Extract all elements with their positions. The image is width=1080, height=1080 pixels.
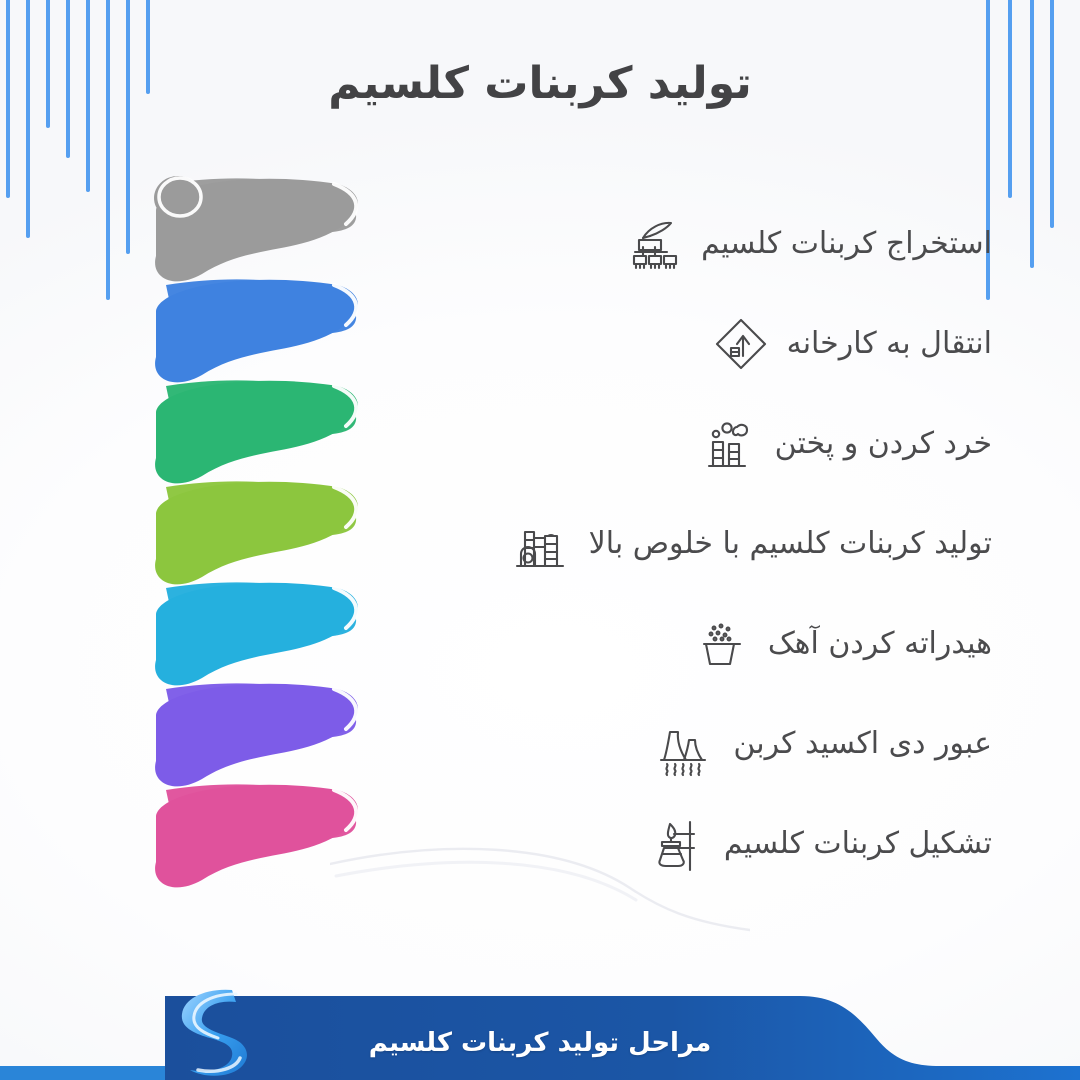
page-title: تولید کربنات کلسیم — [0, 58, 1080, 109]
step-row: انتقال به کارخانه — [472, 296, 992, 396]
excavator-mining-icon — [617, 208, 693, 284]
steps-list: استخراج کربنات کلسیمانتقال به کارخانهخرد… — [472, 196, 992, 896]
step-label: تولید کربنات کلسیم با خلوص بالا — [589, 529, 992, 563]
step-row: استخراج کربنات کلسیم — [472, 196, 992, 296]
truck-transport-sign-icon — [703, 308, 779, 384]
step-row: تشکیل کربنات کلسیم — [472, 796, 992, 896]
step-label: انتقال به کارخانه — [787, 329, 992, 363]
step-row: تولید کربنات کلسیم با خلوص بالا — [472, 496, 992, 596]
bucket-water-droplets-icon — [684, 608, 760, 684]
step-label: عبور دی اکسید کربن — [733, 729, 992, 763]
decorative-lines-right — [980, 0, 1080, 330]
step-row: عبور دی اکسید کربن — [472, 696, 992, 796]
cooling-tower-gas-icon — [649, 708, 725, 784]
step-row: هیدراته کردن آهک — [472, 596, 992, 696]
step-label: خرد کردن و پختن — [775, 429, 992, 463]
factory-chimneys-smoke-icon — [691, 408, 767, 484]
helix-spiral-graphic — [140, 168, 380, 908]
burner-flask-flame-icon — [640, 808, 716, 884]
refinery-plant-icon — [505, 508, 581, 584]
infographic-canvas: تولید کربنات کلسیم استخراج کربنات کلسیما… — [0, 0, 1080, 1080]
step-row: خرد کردن و پختن — [472, 396, 992, 496]
footer-caption: مراحل تولید کربنات کلسیم — [0, 1028, 1080, 1058]
step-label: هیدراته کردن آهک — [768, 629, 992, 663]
step-label: تشکیل کربنات کلسیم — [724, 829, 992, 863]
step-label: استخراج کربنات کلسیم — [701, 229, 992, 263]
